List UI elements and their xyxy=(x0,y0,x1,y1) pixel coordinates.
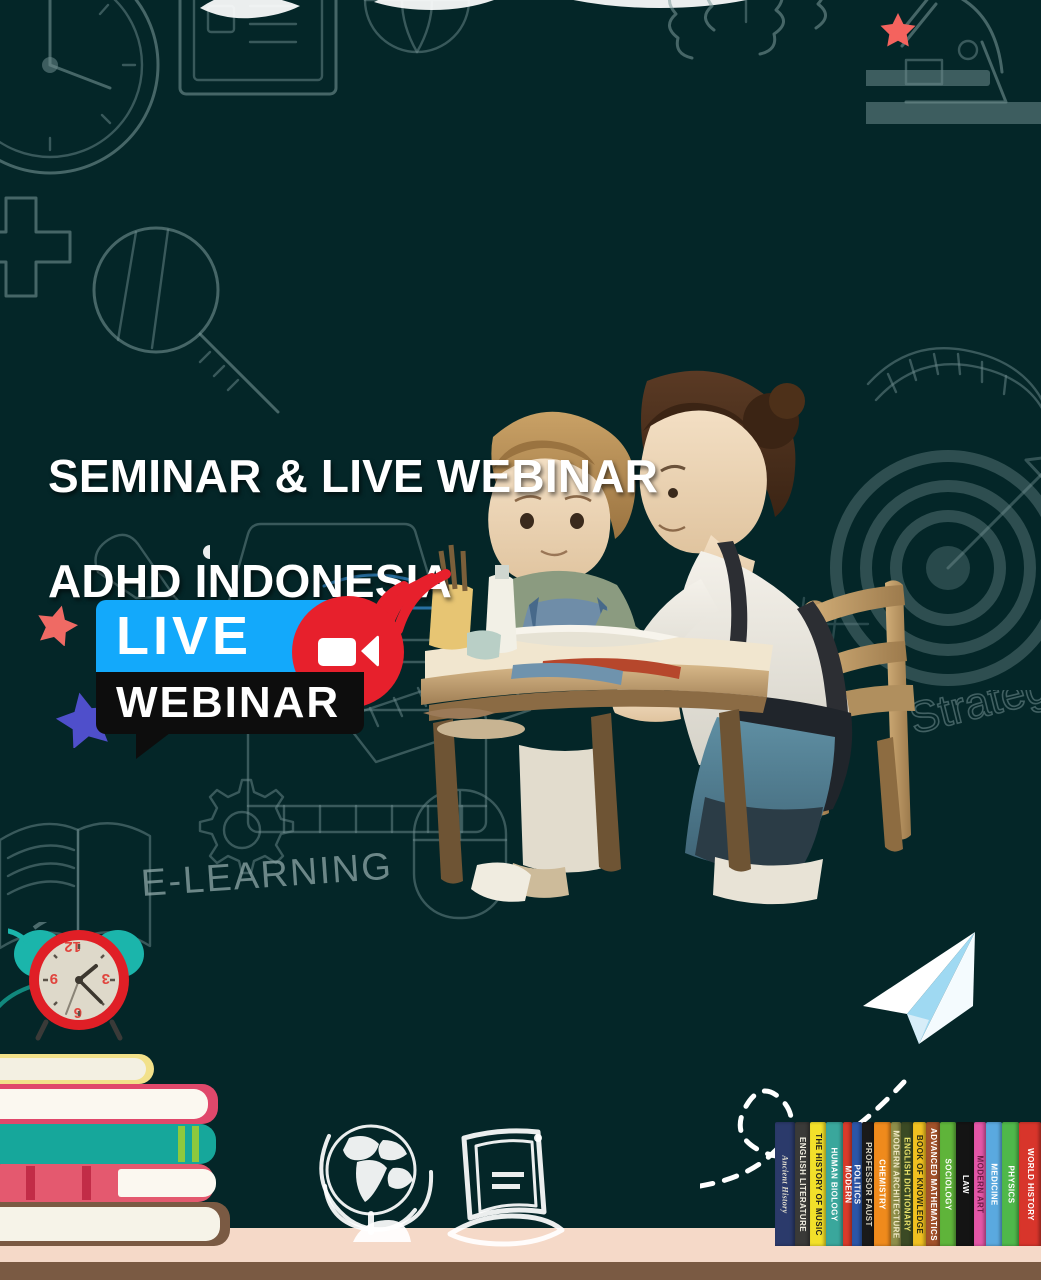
book-spine-title: BOOK OF KNOWLEDGE xyxy=(915,1134,924,1233)
alarm-clock-icon: 12 3 6 9 xyxy=(8,922,158,1042)
book-spine-title: MODERN ART xyxy=(976,1155,985,1213)
book-spine-title: Ancient History xyxy=(781,1155,790,1213)
book-spine: HUMAN BIOLOGY xyxy=(826,1122,843,1246)
book-brown-pages xyxy=(0,1207,220,1241)
book-spine: MODERN xyxy=(843,1122,852,1246)
book-spine: PHYSICS xyxy=(1002,1122,1019,1246)
chalk-stroke-top-b xyxy=(560,0,760,18)
book-rose-pages xyxy=(118,1169,216,1197)
microscope-doodle xyxy=(866,0,1041,176)
book-rose-band-b xyxy=(82,1166,91,1200)
book-spine: ENGLISH DICTIONARY xyxy=(901,1122,913,1246)
book-spine-title: PROFESSOR FAUST xyxy=(864,1142,873,1227)
book-spine-title: Modern Architecture xyxy=(892,1130,901,1238)
book-spine: The History of Music xyxy=(810,1122,826,1246)
chalk-stroke-top-a xyxy=(370,0,500,20)
brain-doodle xyxy=(660,0,860,102)
book-spine: Ancient History xyxy=(775,1122,795,1246)
globe-chalk-icon xyxy=(305,1114,435,1244)
book-spine-title: SOCIOLOGY xyxy=(944,1158,953,1210)
webinar-label: WEBINAR xyxy=(116,681,340,725)
book-spine: MEDICINE xyxy=(986,1122,1002,1246)
book-spine-row: Ancient HistoryEnglish LiteratureThe His… xyxy=(775,1122,1041,1246)
star-red-top-icon xyxy=(880,12,916,48)
book-spine-title: ENGLISH DICTIONARY xyxy=(903,1137,912,1231)
elearning-doodle: E-LEARNING xyxy=(140,850,410,920)
book-spine-title: English Literature xyxy=(798,1136,807,1231)
live-label: LIVE xyxy=(116,609,252,663)
book-spine: POLITICS xyxy=(852,1122,862,1246)
book-spine: PROFESSOR FAUST xyxy=(862,1122,874,1246)
book-stack xyxy=(0,1031,252,1246)
plus-doodle xyxy=(0,192,92,312)
pencil-chalk-stroke xyxy=(195,0,305,30)
globe-doodle-top xyxy=(355,0,485,78)
book-spine: Modern Architecture xyxy=(891,1122,901,1246)
svg-text:9: 9 xyxy=(50,970,58,987)
book-spine-title: POLITICS xyxy=(853,1164,862,1204)
video-camera-icon xyxy=(317,631,379,673)
book-spine: BOOK OF KNOWLEDGE xyxy=(913,1122,926,1246)
headline-line-1: SEMINAR & LIVE WEBINAR xyxy=(48,450,658,502)
book-spine-title: MODERN xyxy=(843,1165,852,1203)
book-spine: SOCIOLOGY xyxy=(940,1122,956,1246)
book-spine-title: WORLD HISTORY xyxy=(1026,1148,1035,1221)
clock-doodle xyxy=(0,0,240,190)
clipboard-doodle xyxy=(172,0,352,124)
elearning-label: E-LEARNING xyxy=(140,850,394,905)
book-spine: WORLD HISTORY xyxy=(1019,1122,1041,1246)
book-spine-title: Chemistry xyxy=(878,1159,887,1209)
book-teal-band-b xyxy=(192,1126,199,1162)
book-spine: English Literature xyxy=(795,1122,810,1246)
book-spine: MODERN ART xyxy=(974,1122,986,1246)
webinar-bar: WEBINAR xyxy=(96,672,364,734)
speech-bubble-tail xyxy=(136,733,170,759)
shelf-edge xyxy=(0,1262,1041,1280)
book-spine: LAW xyxy=(956,1122,974,1246)
svg-text:3: 3 xyxy=(102,970,110,987)
book-yellow-pages xyxy=(0,1058,146,1080)
poster-canvas: Strategy E-LEARNING SEMINAR & LIVE WEBIN… xyxy=(0,0,1041,1280)
book-spine-title: ADVANCED MATHEMATICS xyxy=(929,1128,938,1241)
tablet-chalk-icon xyxy=(440,1118,570,1248)
book-spine-title: MEDICINE xyxy=(990,1163,999,1205)
book-spine-title: The History of Music xyxy=(814,1133,823,1236)
book-pink-pages xyxy=(0,1089,208,1119)
book-rose-band-a xyxy=(26,1166,35,1200)
book-spine-title: HUMAN BIOLOGY xyxy=(830,1147,839,1221)
live-webinar-badge[interactable]: LIVE WEBINAR xyxy=(96,588,436,773)
book-spine: ADVANCED MATHEMATICS xyxy=(926,1122,940,1246)
book-teal-band-a xyxy=(178,1126,185,1162)
book-spine-title: LAW xyxy=(961,1175,970,1194)
book-spine: Chemistry xyxy=(874,1122,891,1246)
book-spine-title: PHYSICS xyxy=(1006,1165,1015,1203)
gear-doodle xyxy=(182,770,302,890)
paper-airplane-icon xyxy=(855,928,985,1048)
star-red-icon xyxy=(36,604,78,646)
